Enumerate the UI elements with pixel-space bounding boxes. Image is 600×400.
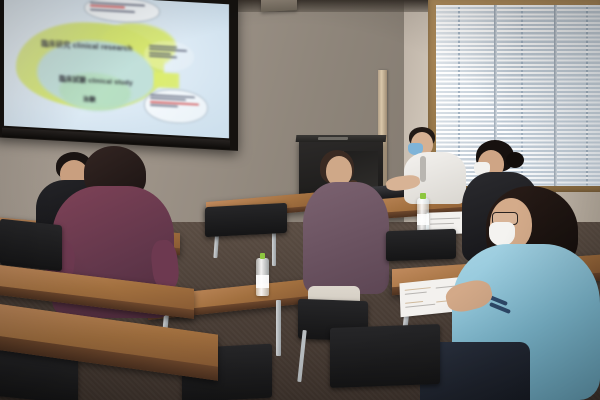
water-bottle[interactable] [256,258,269,296]
projection-screen: 臨床研究 clinical research 臨床試験 clinical stu… [0,0,238,151]
chair[interactable] [205,203,287,237]
chair[interactable] [330,324,440,388]
ceiling-speaker-icon [261,0,297,12]
av-cabinet-top [296,135,387,142]
blind-cord[interactable] [586,5,588,186]
bottle-label [417,214,429,226]
table-leg [276,300,281,356]
av-cabinet-slot [318,137,348,140]
attendee-back-right-hair-bun [506,152,524,168]
slide-callout-top: （説明テキスト） [84,0,160,24]
bottle-cap [420,193,425,199]
slide-legend-chip [154,72,179,88]
slide-callout-right: （補足テキスト） [144,40,194,73]
slide-callout-bottom: （強調テキスト） [144,88,208,126]
chair[interactable] [0,219,62,272]
attendee-center-scrub-top [303,182,389,294]
chair[interactable] [386,229,456,261]
slide-label-chiken: 治験 [83,94,96,104]
window-mullion [554,5,557,186]
bottle-label [256,275,269,288]
seminar-room-photo: 臨床研究 clinical research 臨床試験 clinical stu… [0,0,600,400]
bottle-cap [260,253,266,259]
water-bottle[interactable] [417,198,429,232]
attendee-right-front-face-mask [489,222,515,246]
projected-slide: 臨床研究 clinical research 臨床試験 clinical stu… [4,0,229,138]
stethoscope-icon [420,156,426,182]
